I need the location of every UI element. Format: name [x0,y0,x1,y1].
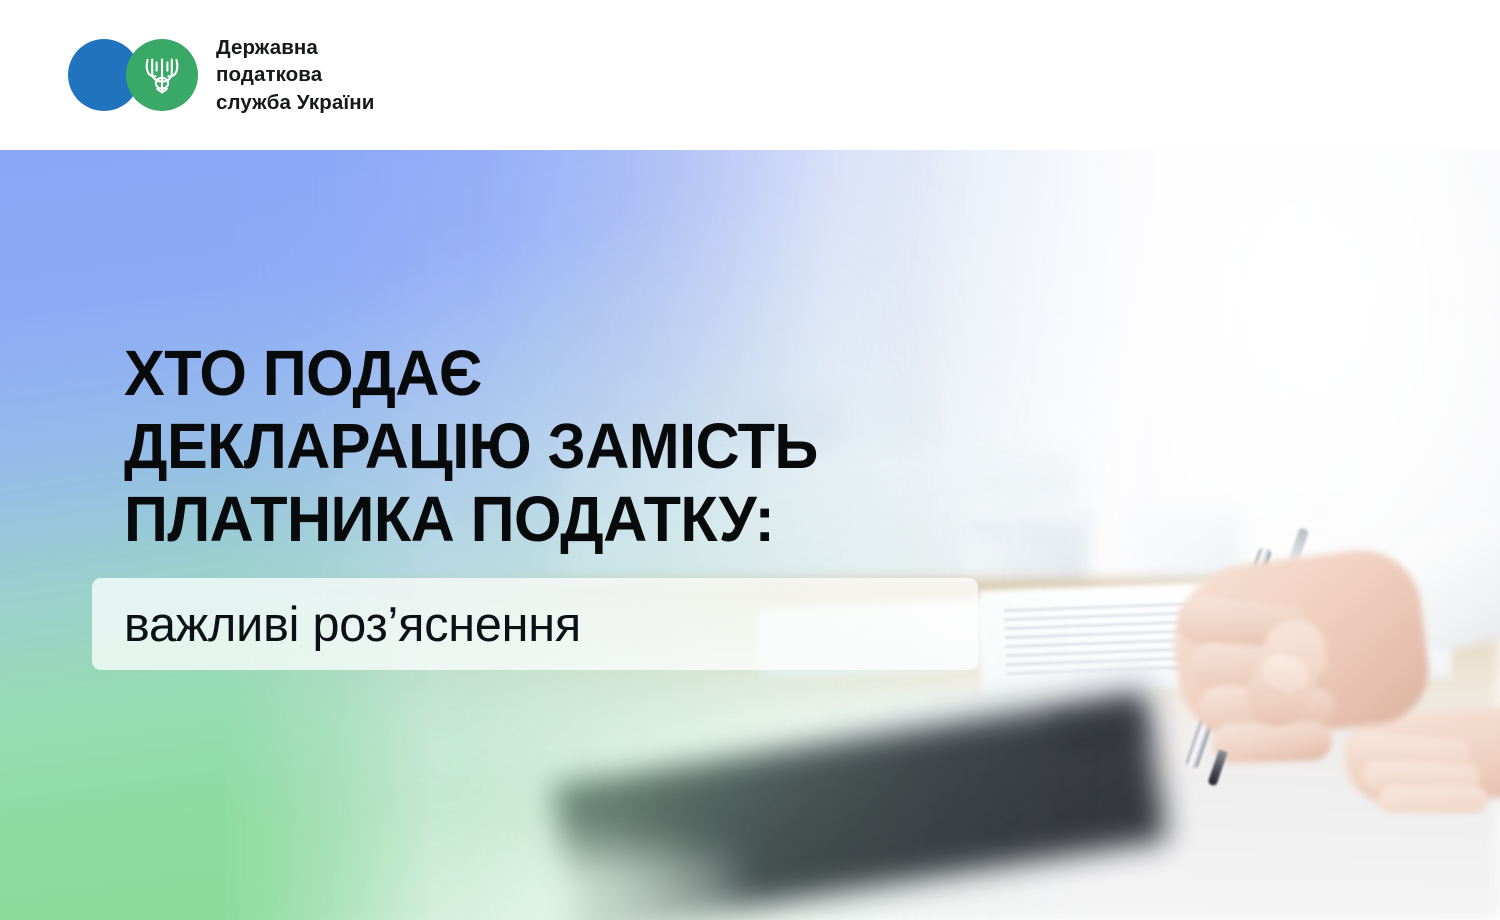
page-title: ХТО ПОДАЄ ДЕКЛАРАЦІЮ ЗАМІСТЬ ПЛАТНИКА ПО… [124,337,818,556]
site-header: Державна податкова служба України [0,0,1500,150]
poster-canvas: ХТО ПОДАЄ ДЕКЛАРАЦІЮ ЗАМІСТЬ ПЛАТНИКА ПО… [0,0,1500,920]
logo-marks [68,39,198,111]
organisation-name: Державна податкова служба України [216,34,374,116]
ukrainian-trident-icon [126,39,198,111]
hero-copy: ХТО ПОДАЄ ДЕКЛАРАЦІЮ ЗАМІСТЬ ПЛАТНИКА ПО… [0,150,1500,920]
organisation-logo[interactable]: Державна податкова служба України [68,34,374,116]
page-subtitle: важливі роз’яснення [124,590,969,660]
